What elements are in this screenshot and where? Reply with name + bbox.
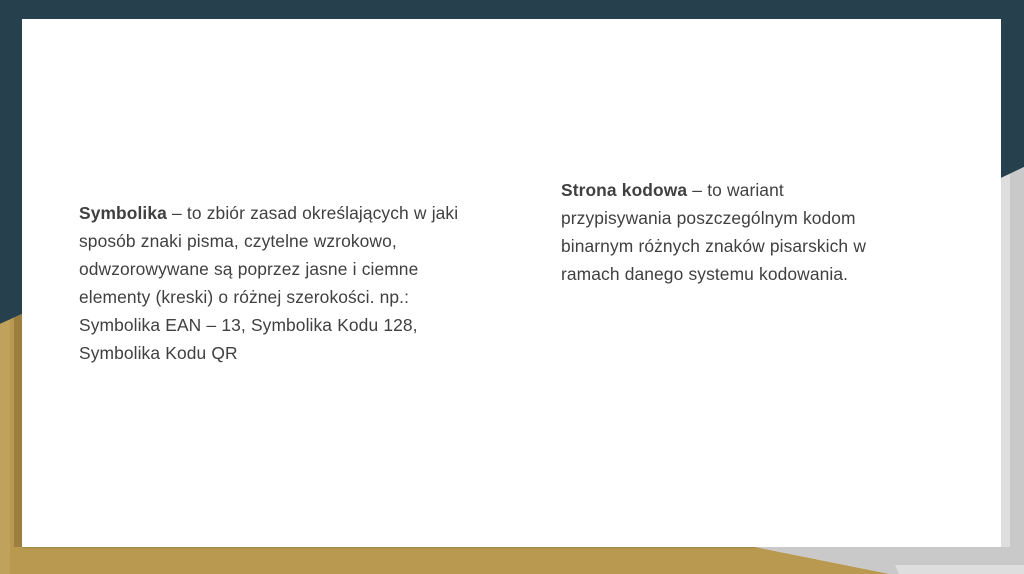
text-column-strona-kodowa: Strona kodowa – to wariant przypisywania… [561,176,891,288]
text-column-symbolika: Symbolika – to zbiór zasad określających… [79,199,471,367]
slide: Symbolika – to zbiór zasad określających… [0,0,1024,574]
term-label-strona-kodowa: Strona kodowa [561,180,687,200]
term-label-symbolika: Symbolika [79,203,167,223]
definition-text-symbolika: – to zbiór zasad określających w jaki sp… [79,203,458,363]
